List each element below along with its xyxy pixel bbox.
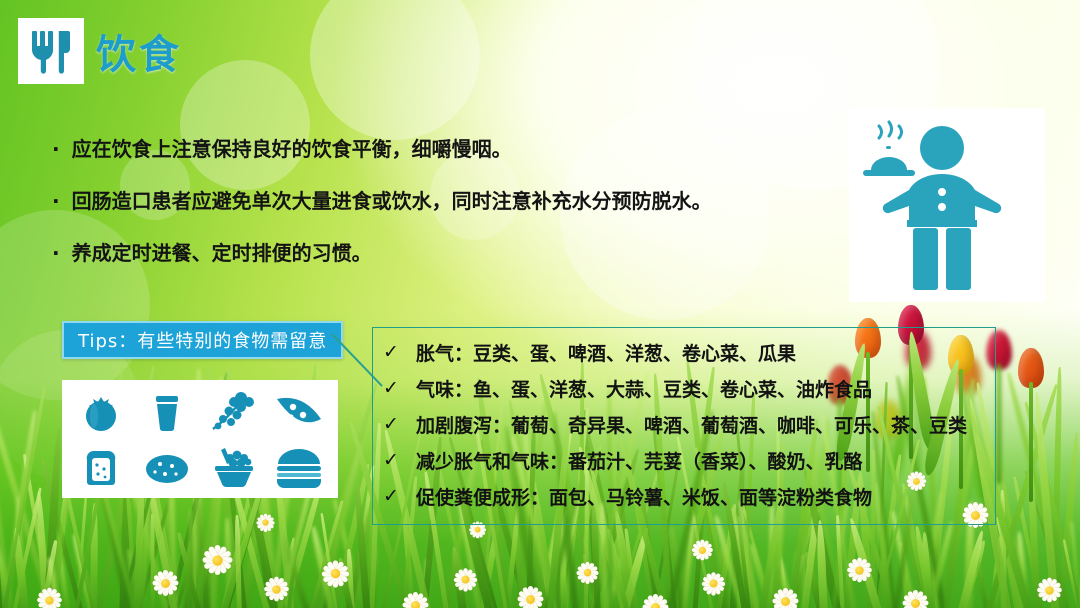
checklist-row: ✓ 减少胀气和气味：番茄汁、芫荽（香菜）、酸奶、乳酪 xyxy=(382,442,1002,478)
checklist-row-text: 加剧腹泻：葡萄、奇异果、啤酒、葡萄酒、咖啡、可乐、茶、豆类 xyxy=(416,411,967,438)
bullet-marker: · xyxy=(52,240,60,266)
bullet-item: · 养成定时进餐、定时排便的习惯。 xyxy=(52,240,842,266)
bullet-text: 养成定时进餐、定时排便的习惯。 xyxy=(72,240,372,266)
checklist: ✓ 胀气：豆类、蛋、啤酒、洋葱、卷心菜、瓜果 ✓ 气味：鱼、蛋、洋葱、大蒜、豆类… xyxy=(382,334,1002,514)
slide-canvas: 饮食 · 应在饮食上注意保持良好的饮食平衡，细嚼慢咽。 · 回肠造口患者应避免单… xyxy=(0,0,1080,608)
waiter-illustration-card xyxy=(849,108,1045,302)
salad-bowl-icon xyxy=(208,444,258,490)
tulip-flower xyxy=(1018,348,1044,388)
food-icons-card xyxy=(62,380,338,498)
bullet-marker: · xyxy=(52,188,60,214)
checklist-row: ✓ 气味：鱼、蛋、洋葱、大蒜、豆类、卷心菜、油炸食品 xyxy=(382,370,1002,406)
burger-icon xyxy=(272,444,326,490)
checklist-row-text: 胀气：豆类、蛋、啤酒、洋葱、卷心菜、瓜果 xyxy=(416,339,796,366)
checklist-row-text: 促使粪便成形：面包、马铃薯、米饭、面等淀粉类食物 xyxy=(416,483,872,510)
checklist-row-text: 减少胀气和气味：番茄汁、芫荽（香菜）、酸奶、乳酪 xyxy=(416,447,863,474)
page-title-text: 饮食 xyxy=(96,22,182,80)
checklist-row: ✓ 加剧腹泻：葡萄、奇异果、啤酒、葡萄酒、咖啡、可乐、茶、豆类 xyxy=(382,406,1002,442)
cup-icon xyxy=(144,389,190,435)
tips-label-text: Tips：有些特别的食物需留意 xyxy=(78,327,327,353)
bread-slice-icon xyxy=(78,444,124,490)
checklist-row: ✓ 胀气：豆类、蛋、啤酒、洋葱、卷心菜、瓜果 xyxy=(382,334,1002,370)
bullet-list: · 应在饮食上注意保持良好的饮食平衡，细嚼慢咽。 · 回肠造口患者应避免单次大量… xyxy=(52,136,842,292)
checklist-row-text: 气味：鱼、蛋、洋葱、大蒜、豆类、卷心菜、油炸食品 xyxy=(416,375,872,402)
waiter-with-tray-icon xyxy=(849,108,1045,302)
checklist-row: ✓ 促使粪便成形：面包、马铃薯、米饭、面等淀粉类食物 xyxy=(382,478,1002,514)
fork-knife-icon xyxy=(18,18,84,84)
check-icon: ✓ xyxy=(382,341,400,363)
pizza-slice-icon xyxy=(273,389,325,435)
tips-label: Tips：有些特别的食物需留意 xyxy=(62,321,343,359)
check-icon: ✓ xyxy=(382,485,400,507)
bullet-text: 回肠造口患者应避免单次大量进食或饮水，同时注意补充水分预防脱水。 xyxy=(72,188,712,214)
bullet-item: · 应在饮食上注意保持良好的饮食平衡，细嚼慢咽。 xyxy=(52,136,842,162)
cookie-icon xyxy=(142,444,192,490)
bullet-item: · 回肠造口患者应避免单次大量进食或饮水，同时注意补充水分预防脱水。 xyxy=(52,188,842,214)
page-title: 饮食 xyxy=(18,18,182,84)
parsley-icon xyxy=(207,389,259,435)
check-icon: ✓ xyxy=(382,449,400,471)
check-icon: ✓ xyxy=(382,377,400,399)
tomato-icon xyxy=(78,389,124,435)
check-icon: ✓ xyxy=(382,413,400,435)
bullet-marker: · xyxy=(52,136,60,162)
bullet-text: 应在饮食上注意保持良好的饮食平衡，细嚼慢咽。 xyxy=(72,136,512,162)
